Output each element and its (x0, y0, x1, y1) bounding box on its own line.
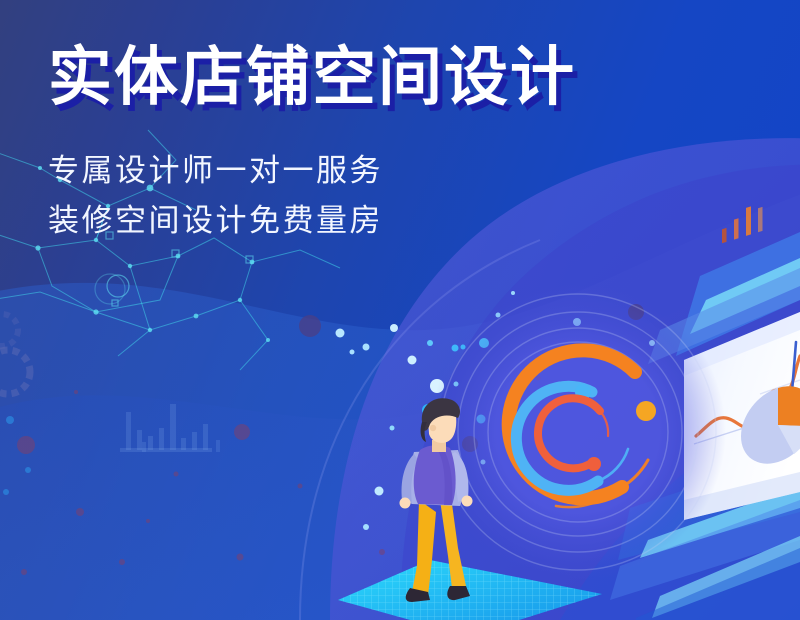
isometric-grid-platform (338, 560, 602, 620)
subtitle-line-1: 专属设计师一对一服务 (48, 146, 576, 196)
subtitle-line-2: 装修空间设计免费量房 (48, 196, 576, 246)
promo-banner: 实体店铺空间设计 专属设计师一对一服务 装修空间设计免费量房 (0, 0, 800, 620)
headline-block: 实体店铺空间设计 专属设计师一对一服务 装修空间设计免费量房 (48, 42, 576, 246)
subtitle-block: 专属设计师一对一服务 装修空间设计免费量房 (48, 146, 576, 246)
page-title: 实体店铺空间设计 (48, 42, 576, 114)
